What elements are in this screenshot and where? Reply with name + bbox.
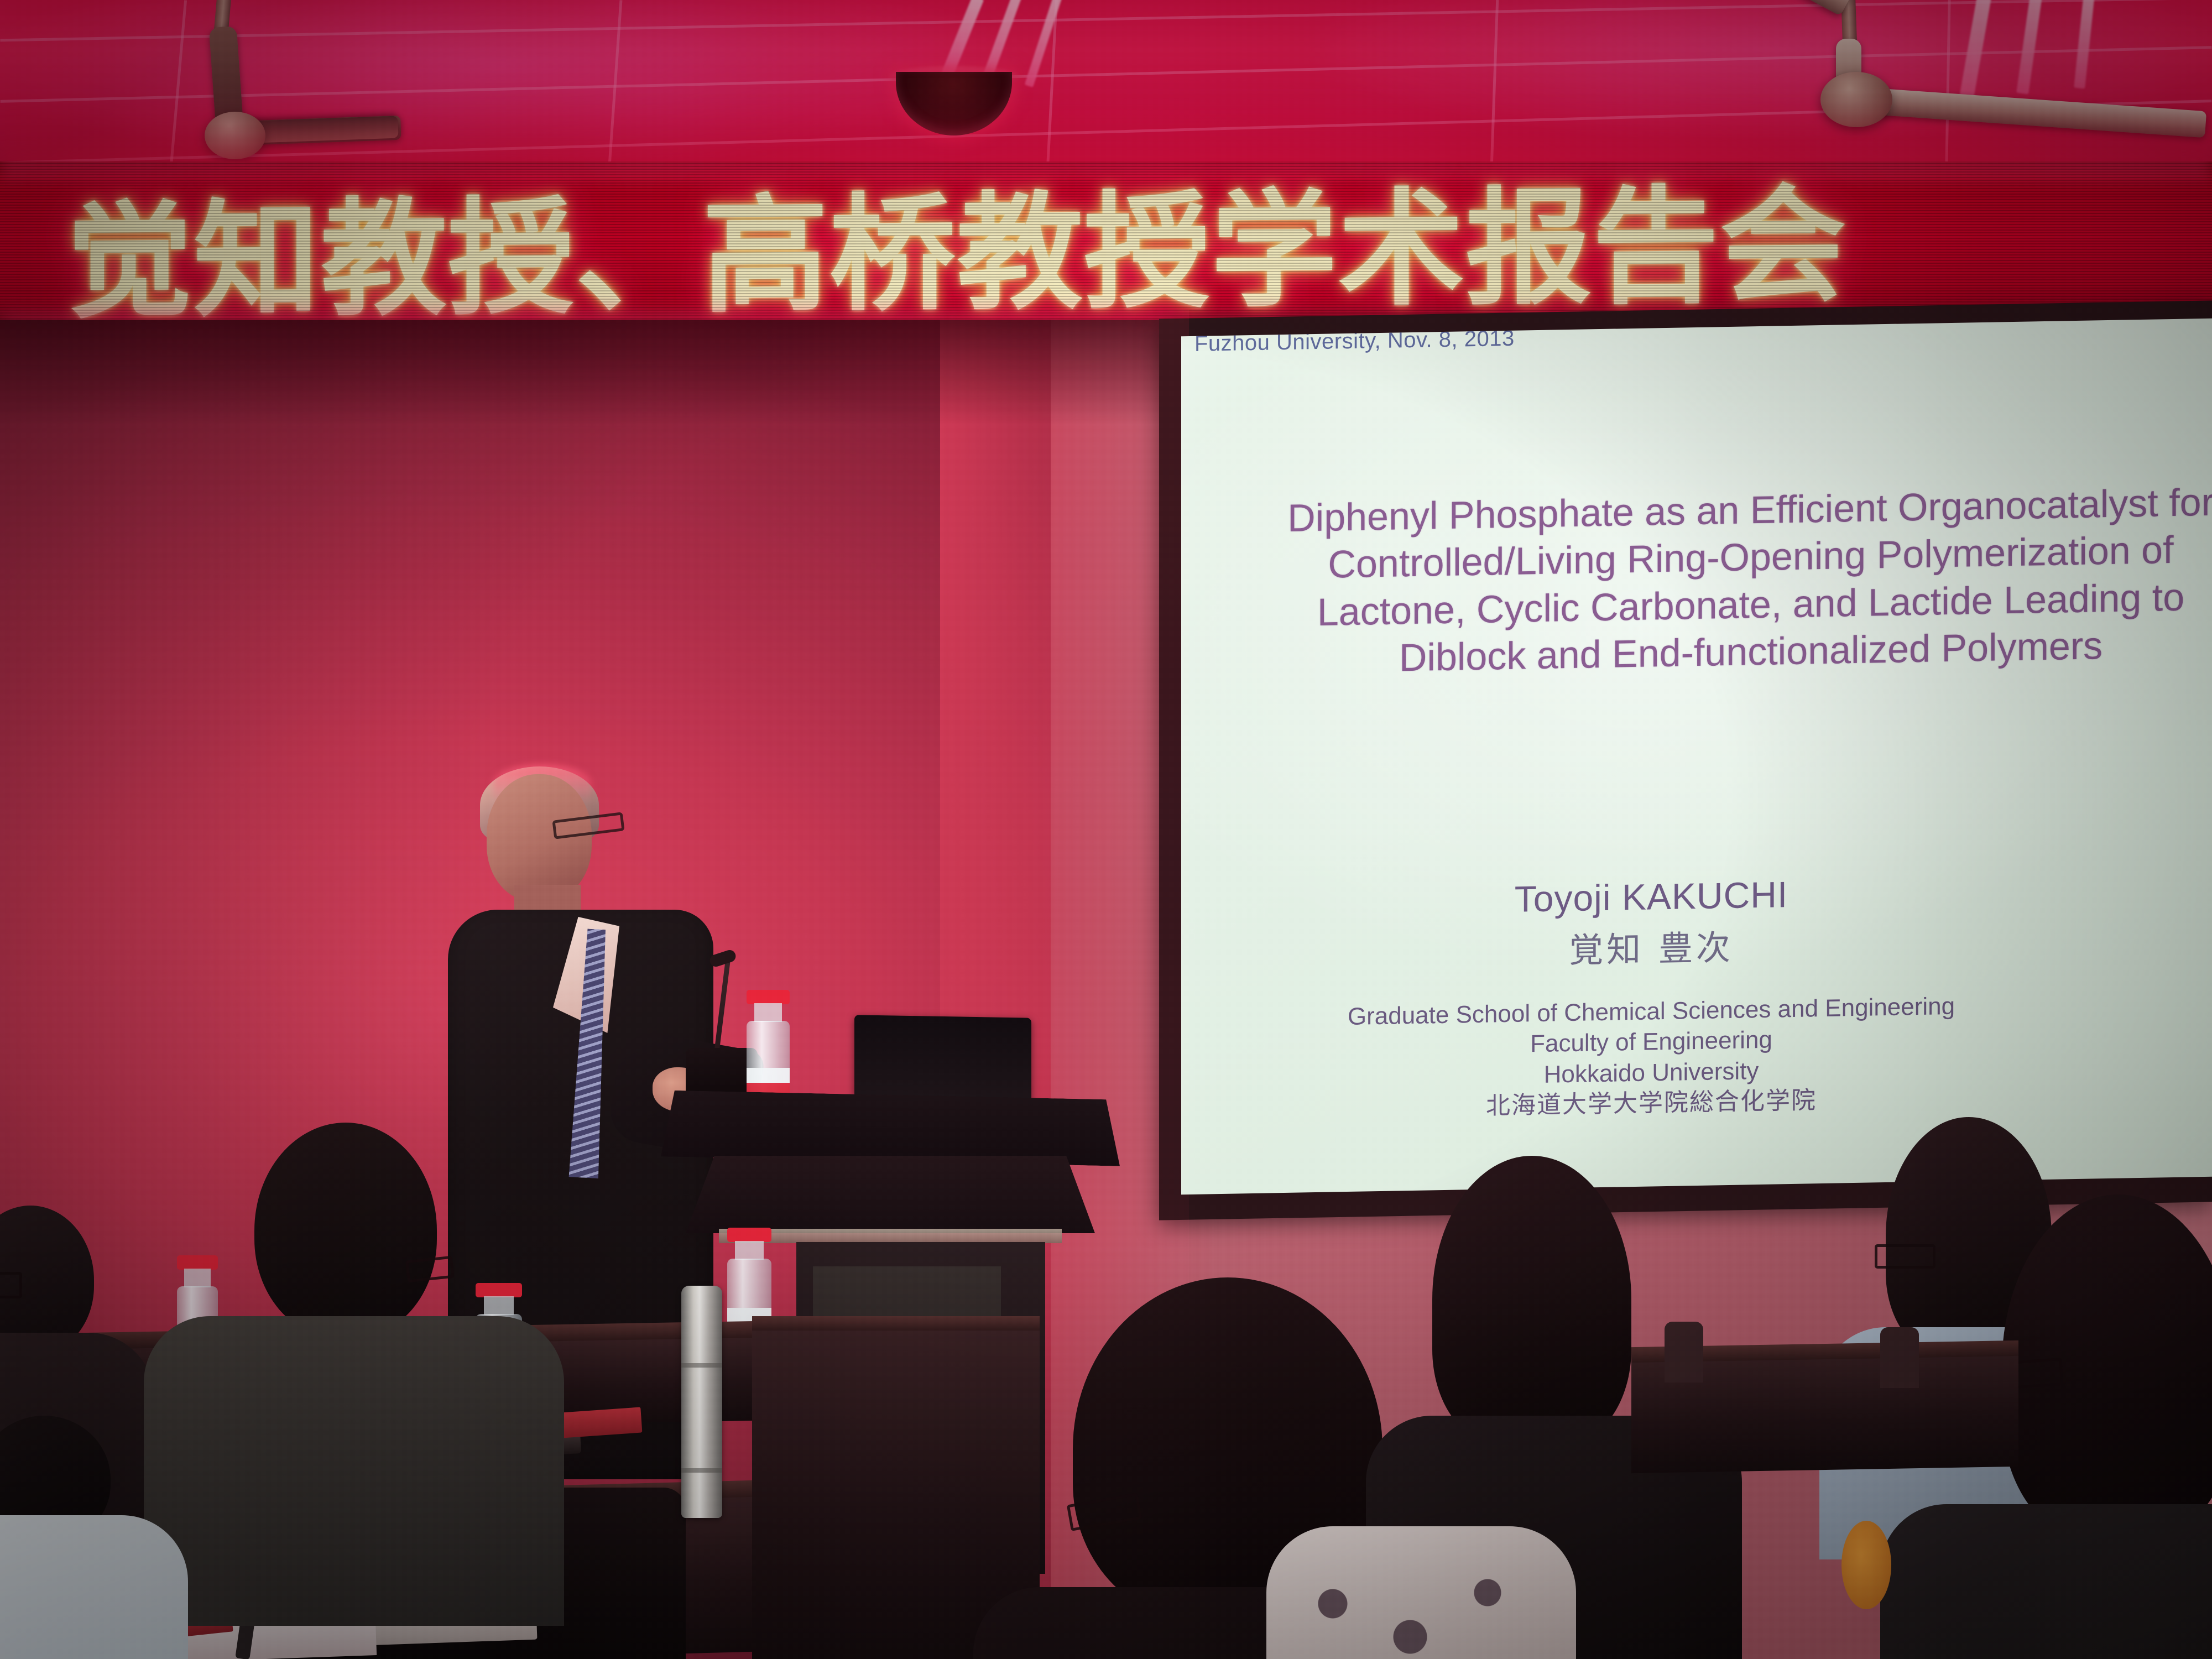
fan-hub xyxy=(205,112,265,159)
fan-hub xyxy=(1820,72,1892,127)
bottle-cap xyxy=(476,1283,522,1297)
bottle-neck xyxy=(754,1003,782,1022)
fan-blade xyxy=(1587,0,1854,16)
bottle-neck xyxy=(735,1241,763,1260)
led-banner: 觉知教授、高桥教授学术报告会 xyxy=(0,161,2212,327)
photo-scene: 觉知教授、高桥教授学术报告会 Fuzhou University, Nov. 8… xyxy=(0,0,2212,1659)
projection-screen: Fuzhou University, Nov. 8, 2013 Diphenyl… xyxy=(1181,319,2212,1195)
audience-shoulders xyxy=(1266,1526,1576,1659)
bottle-neck xyxy=(484,1296,514,1315)
audience-head xyxy=(1432,1156,1631,1443)
thermos-flask xyxy=(681,1286,722,1518)
audience-head xyxy=(254,1123,437,1338)
ceiling-fan-left xyxy=(77,0,387,155)
ceiling-fan-right xyxy=(1604,0,2212,149)
podium-top-surface xyxy=(661,1090,1120,1166)
banner-text: 觉知教授、高桥教授学术报告会 xyxy=(66,161,2179,327)
speaker-head xyxy=(487,774,592,901)
bottle-cap xyxy=(727,1228,771,1242)
bottle-cap xyxy=(177,1255,218,1270)
seat-armrest xyxy=(1880,1327,1919,1388)
seat-armrest xyxy=(1665,1322,1703,1383)
podium-apron xyxy=(686,1156,1095,1233)
audience-glasses-icon xyxy=(1875,1244,1936,1269)
thermos-ring xyxy=(681,1468,722,1473)
fan-blade xyxy=(1863,87,2206,138)
bottle-neck xyxy=(184,1269,210,1287)
laptop-screen[interactable] xyxy=(854,1015,1031,1101)
thermos-ring xyxy=(681,1363,722,1368)
audience-shoulders xyxy=(1880,1504,2212,1659)
wall-upper-shadow xyxy=(0,320,1161,425)
slide-affiliation: Graduate School of Chemical Sciences and… xyxy=(1181,988,2121,1127)
audience-glasses-icon xyxy=(0,1272,22,1298)
audience-shoulders xyxy=(0,1515,188,1659)
bottle-cap xyxy=(747,990,790,1004)
audience-shoulders xyxy=(144,1316,564,1626)
orange-fruit xyxy=(1841,1521,1891,1609)
slide-title: Diphenyl Phosphate as an Efficient Organ… xyxy=(1181,477,2212,686)
